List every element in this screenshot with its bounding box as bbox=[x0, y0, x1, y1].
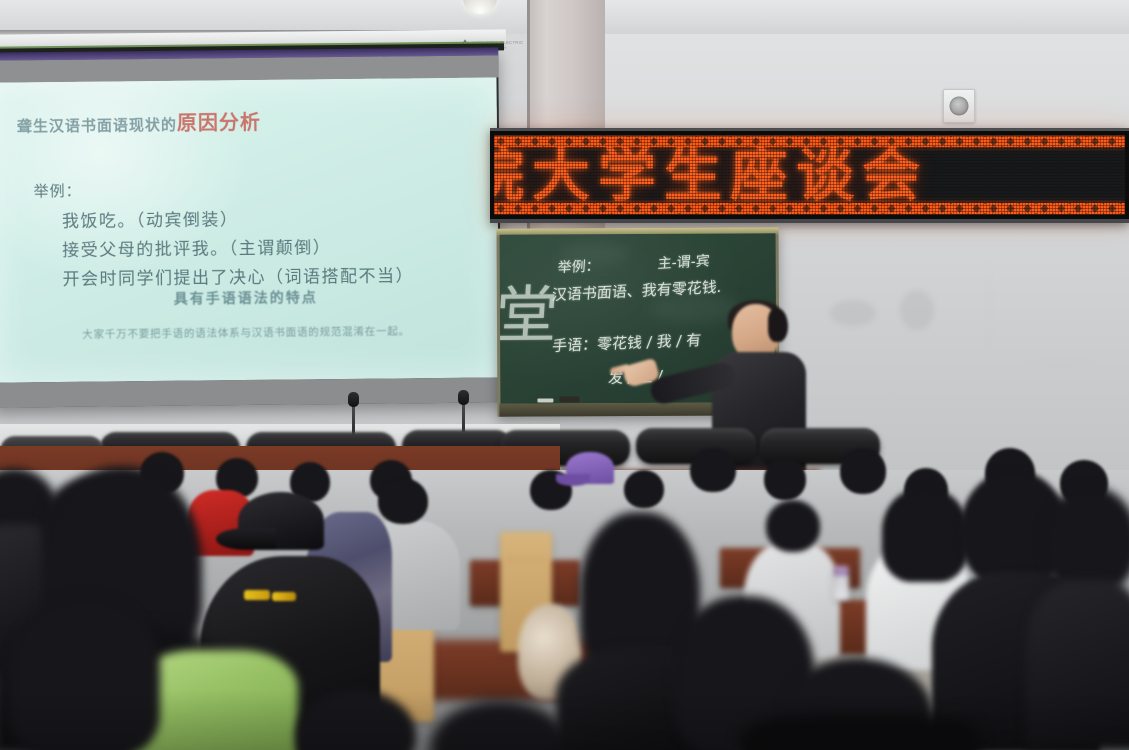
wall-speaker bbox=[943, 89, 975, 123]
bottom-vignette bbox=[0, 690, 1129, 750]
cap-brim bbox=[216, 528, 276, 550]
projection-screen: 聋生汉语书面语现状的原因分析 举例： 我饭吃。（动宾倒装） 接受父母的批评我。（… bbox=[0, 47, 502, 407]
yellow-lanyard bbox=[272, 592, 296, 601]
slide-footer-note: 大家千万不要把手语的语法体系与汉语书面语的规范混淆在一起。 bbox=[0, 322, 499, 342]
presentation-slide: 聋生汉语书面语现状的原因分析 举例： 我饭吃。（动宾倒装） 接受父母的批评我。（… bbox=[0, 77, 500, 382]
led-banner: 院大学生座谈会 bbox=[490, 128, 1129, 223]
wall-smudge bbox=[900, 290, 934, 330]
slide-title-grey: 聋生汉语书面语现状的 bbox=[17, 116, 177, 136]
wall-crack bbox=[1020, 360, 1100, 366]
blackboard-eraser bbox=[559, 396, 579, 402]
slide-lead: 举例： bbox=[33, 176, 473, 202]
audience-head bbox=[766, 500, 820, 552]
chair-slat bbox=[506, 556, 546, 564]
blackboard-line: 手语：零花钱 / 我 / 有 bbox=[551, 329, 702, 356]
slide-title-red: 原因分析 bbox=[177, 110, 261, 135]
speaker-hair-side bbox=[768, 308, 788, 342]
purple-cap bbox=[566, 452, 614, 484]
microphone-head-icon bbox=[348, 392, 359, 407]
black-cap bbox=[238, 492, 324, 550]
blackboard-line: 主-谓-宾 bbox=[657, 250, 710, 273]
slide-body: 举例： 我饭吃。（动宾倒装） 接受父母的批评我。（主谓颠倒） 开会时同学们提出了… bbox=[33, 176, 474, 295]
led-banner-text: 院大学生座谈会 bbox=[494, 144, 1125, 206]
blackboard-line: 举例： bbox=[557, 255, 600, 277]
slide-example: 接受父母的批评我。（主谓颠倒） bbox=[62, 232, 474, 261]
yellow-lanyard bbox=[244, 590, 270, 600]
cap-brim bbox=[556, 474, 590, 486]
slide-center-line: 具有手语语法的特点 bbox=[0, 285, 499, 310]
slide-example: 我饭吃。（动宾倒装） bbox=[62, 203, 474, 232]
led-panel: 院大学生座谈会 bbox=[494, 135, 1125, 215]
audience-head bbox=[378, 478, 428, 524]
audience-head bbox=[764, 458, 806, 500]
purple-water-bottle bbox=[834, 566, 849, 600]
audience-head bbox=[840, 448, 886, 494]
audience-head bbox=[624, 470, 664, 508]
chalk-stick bbox=[537, 398, 553, 402]
speaker-cone-icon bbox=[950, 97, 969, 116]
wall-smudge bbox=[830, 300, 876, 326]
lecture-hall-photo: MITSUBISHI ELECTRIC 聋生汉语书面语现状的原因分析 举例： 我… bbox=[0, 0, 1129, 750]
microphone-head-icon bbox=[458, 390, 469, 405]
audience-head bbox=[690, 448, 736, 492]
slide-title: 聋生汉语书面语现状的原因分析 bbox=[17, 106, 261, 138]
wall-smudge bbox=[985, 260, 993, 350]
audience-head bbox=[882, 488, 968, 582]
